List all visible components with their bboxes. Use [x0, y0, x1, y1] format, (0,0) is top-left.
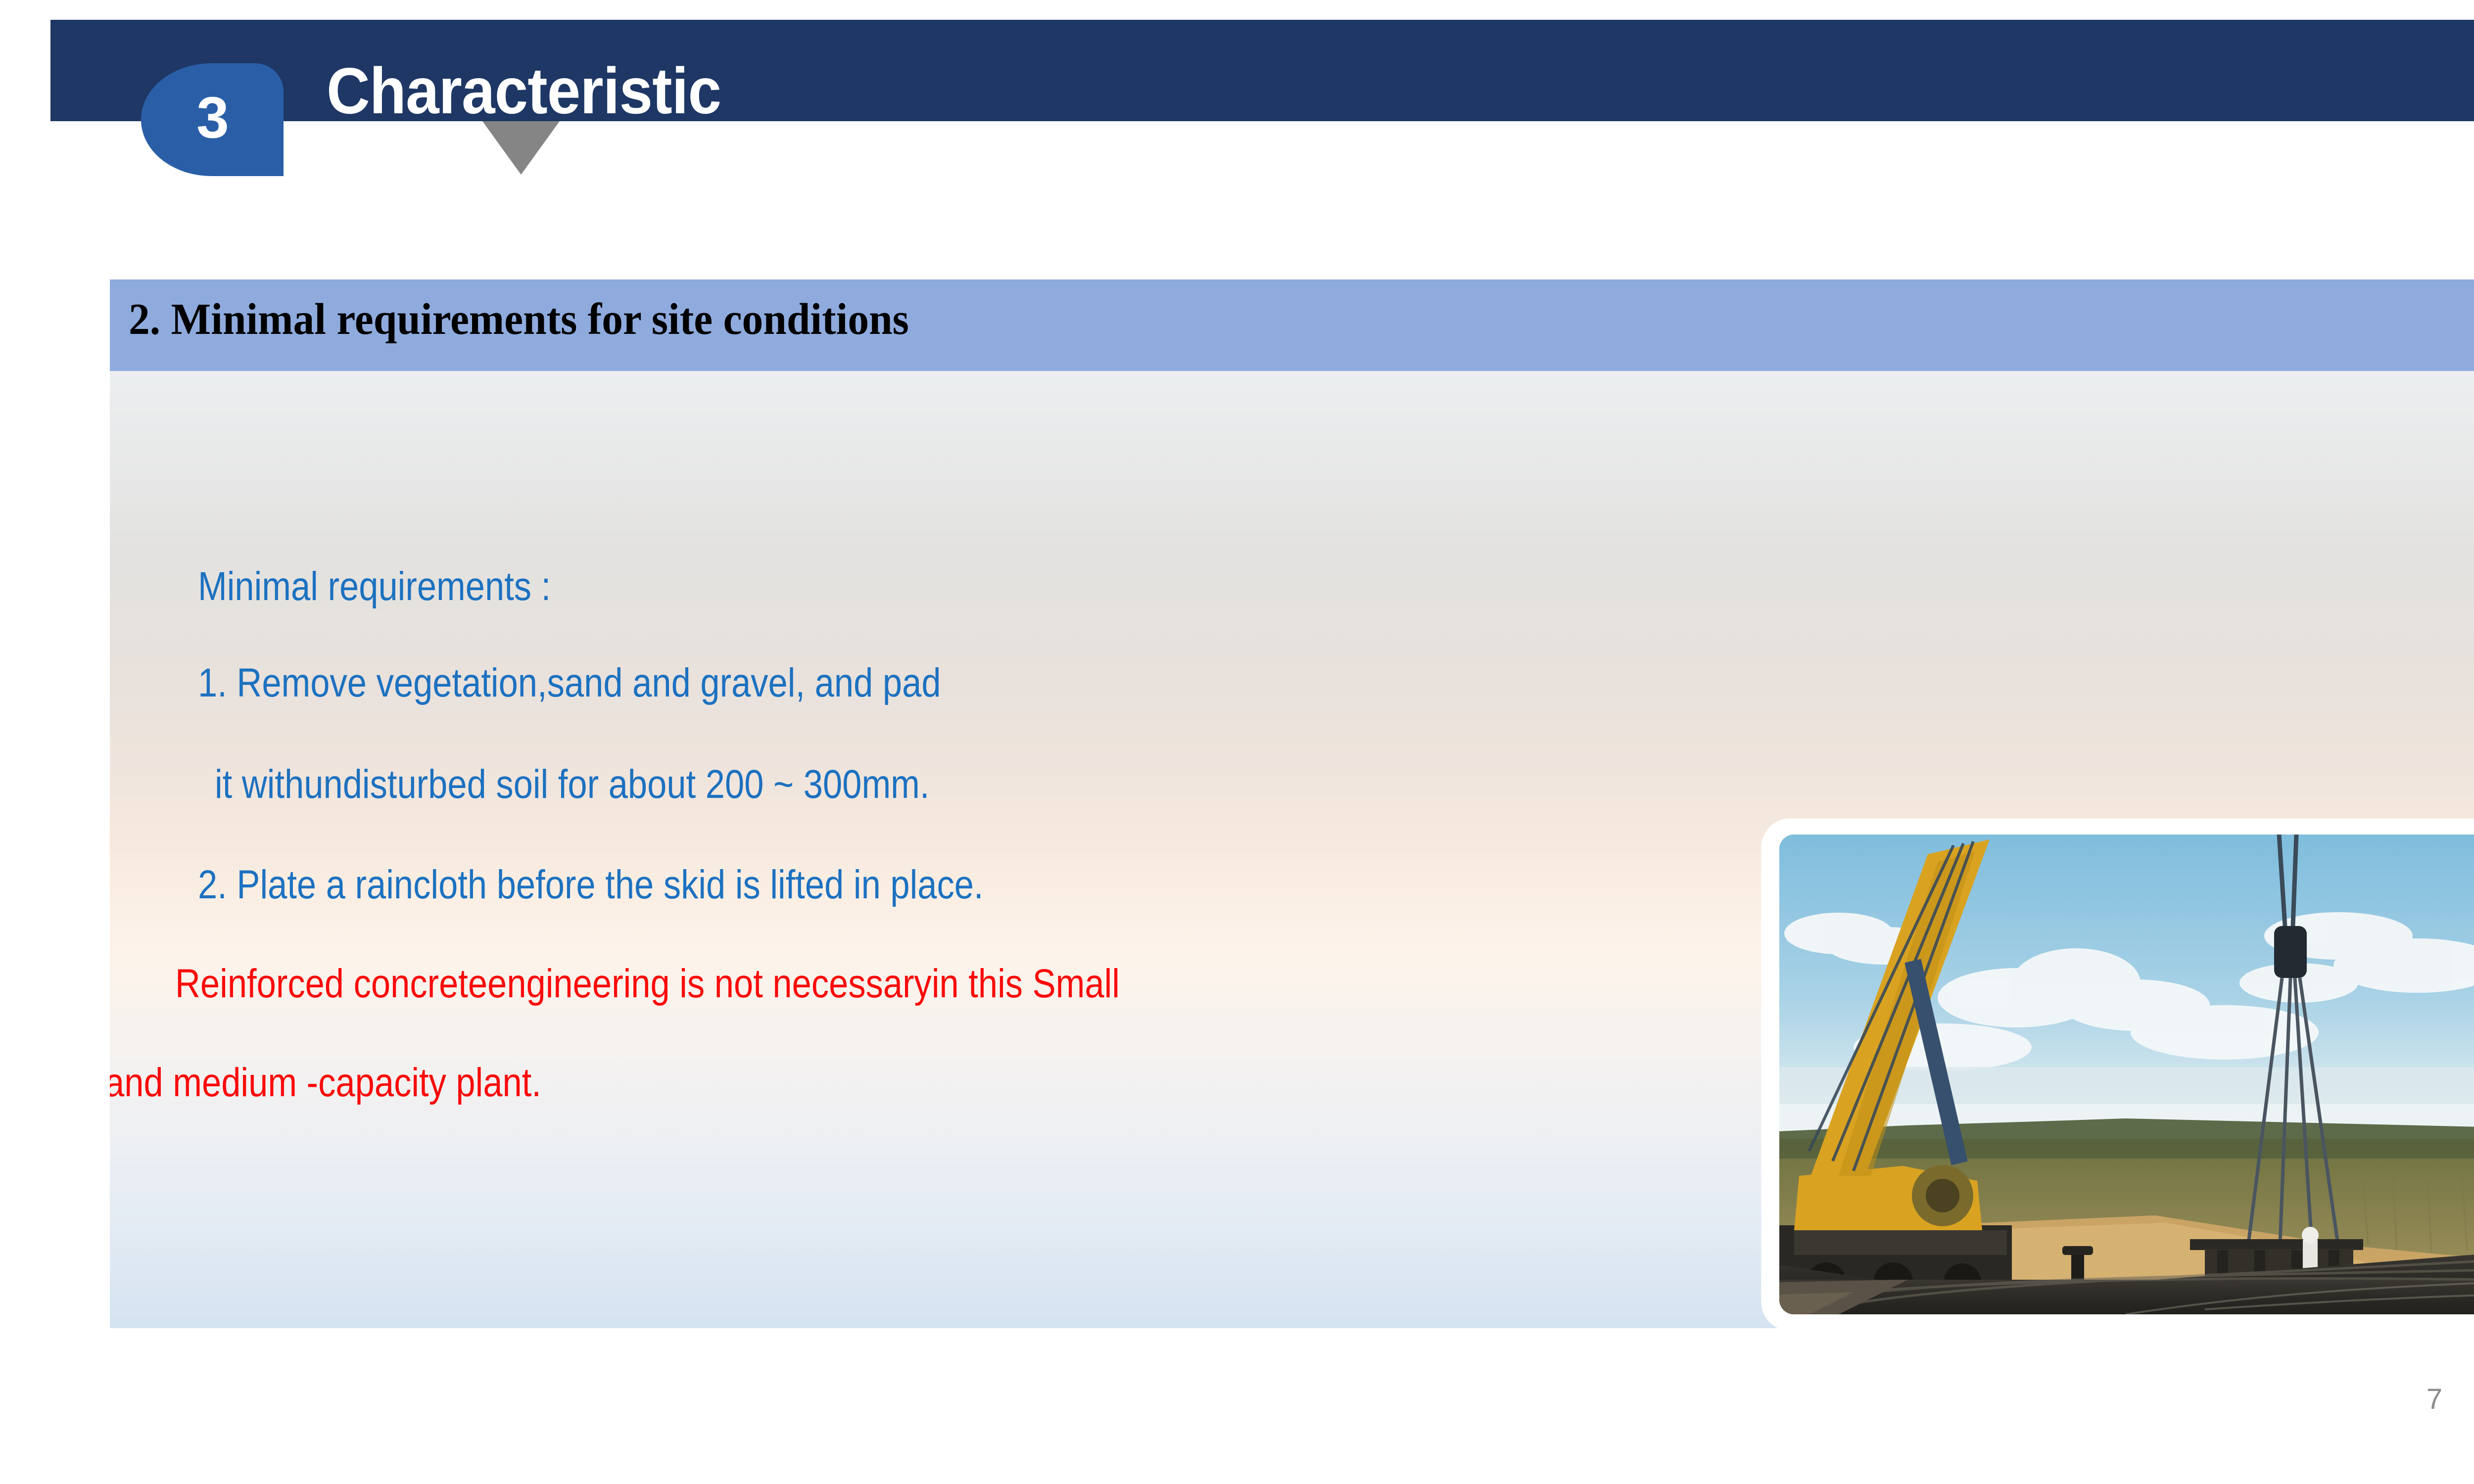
subtitle-band: 2. Minimal requirements for site conditi…: [110, 279, 2474, 371]
site-photo: [1779, 835, 2474, 1314]
section-number-label: 3: [196, 89, 228, 147]
site-photo-illustration: [1779, 835, 2474, 1314]
content-panel: 2. Minimal requirements for site conditi…: [110, 279, 2474, 1328]
section-number-badge: 3: [141, 63, 284, 176]
page-number: 7: [2405, 1385, 2464, 1414]
photo-frame: [1761, 819, 2474, 1328]
subtitle-label: 2. Minimal requirements for site conditi…: [129, 297, 909, 342]
body-line-1: Minimal requirements :: [198, 566, 551, 607]
body-line-4: 2. Plate a raincloth before the skid is …: [198, 865, 984, 905]
body-line-6: and medium -capacity plant.: [110, 1063, 541, 1103]
page-title: Characteristic: [327, 58, 721, 124]
body-line-2: 1. Remove vegetation,sand and gravel, an…: [198, 663, 941, 703]
header-pointer-triangle-icon: [482, 121, 560, 175]
body-line-3: it withundisturbed soil for about 200 ~ …: [215, 764, 930, 805]
body-line-5: Reinforced concreteengineering is not ne…: [175, 964, 1120, 1004]
